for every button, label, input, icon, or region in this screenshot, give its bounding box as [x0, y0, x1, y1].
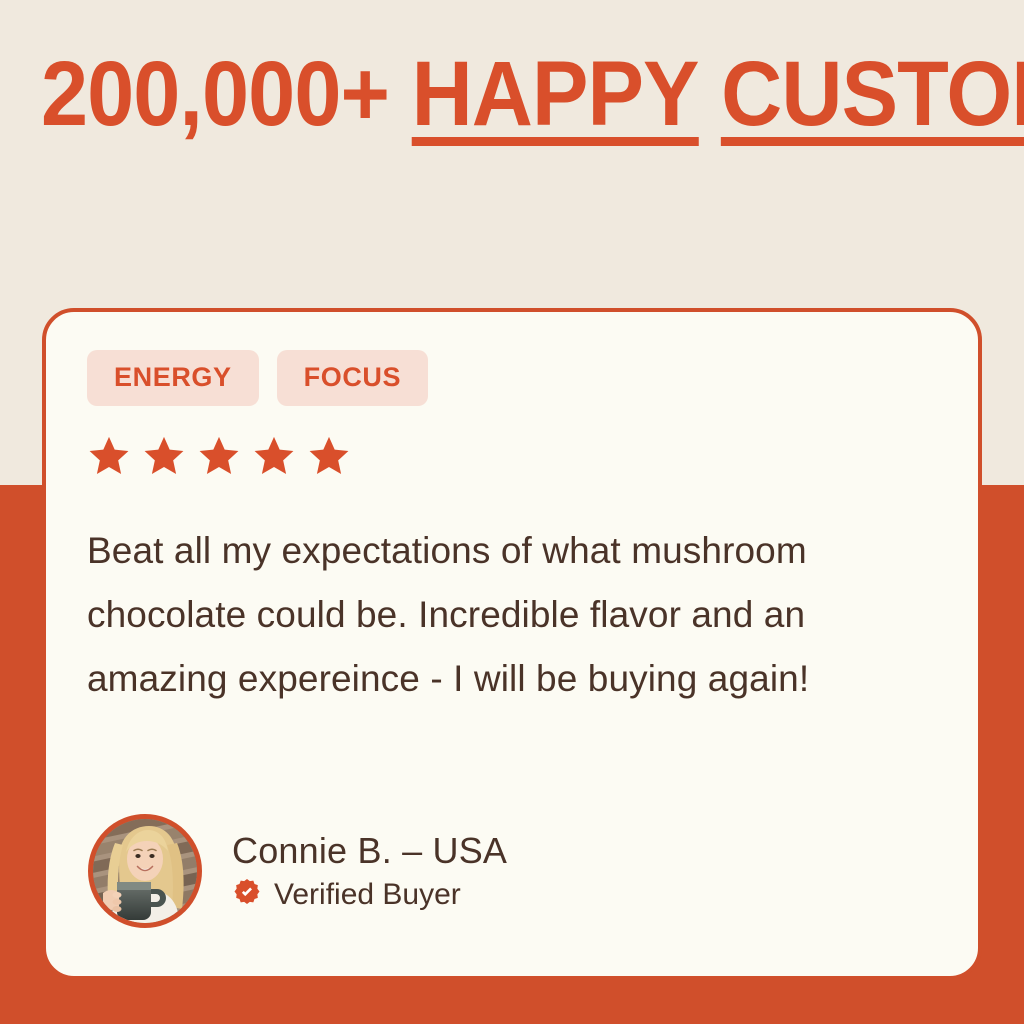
- headline-happy: HAPPY: [412, 42, 699, 146]
- star-icon: [251, 434, 297, 478]
- verified-badge-icon: [232, 878, 262, 913]
- page-title: 200,000+ HAPPY CUSTOMERS: [41, 42, 983, 146]
- author-meta: Connie B. – USA Verified Buyer: [232, 830, 507, 913]
- review-author: Connie B. – USA Verified Buyer: [88, 814, 507, 928]
- review-body-text: Beat all my expectations of what mushroo…: [87, 519, 952, 711]
- verified-buyer-row: Verified Buyer: [232, 878, 507, 913]
- headline-customers: CUSTOMERS: [721, 42, 1024, 146]
- promo-testimonial-page: 200,000+ HAPPY CUSTOMERS ENERGY FOCUS: [0, 0, 1024, 1024]
- star-icon: [86, 434, 132, 478]
- star-icon: [306, 434, 352, 478]
- benefit-badge-energy[interactable]: ENERGY: [87, 350, 259, 406]
- verified-buyer-label: Verified Buyer: [274, 878, 461, 912]
- star-rating: [86, 434, 352, 478]
- benefit-badge-focus[interactable]: FOCUS: [277, 350, 429, 406]
- star-icon: [196, 434, 242, 478]
- benefit-badge-row: ENERGY FOCUS: [87, 350, 428, 406]
- review-card: ENERGY FOCUS Beat all my expectations of…: [42, 308, 982, 980]
- avatar: [88, 814, 202, 928]
- headline-count: 200,000+: [41, 43, 412, 145]
- author-name: Connie B. – USA: [232, 830, 507, 872]
- star-icon: [141, 434, 187, 478]
